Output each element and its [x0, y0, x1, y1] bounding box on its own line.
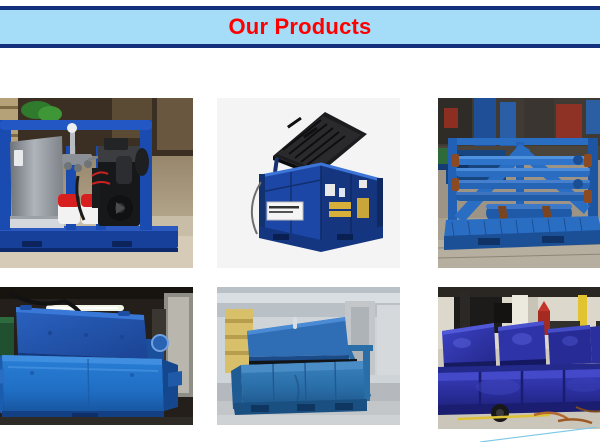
- photo-pipe-rack-skid-image: [438, 98, 600, 268]
- page-title: Our Products: [229, 16, 372, 38]
- photo-hydraulic-power-unit-image: [0, 98, 193, 268]
- photo-storage-box-open-image: [0, 287, 193, 425]
- photo-box-row-warehouse-image: [438, 287, 600, 429]
- product-photo-box-row-warehouse[interactable]: [438, 287, 600, 429]
- photo-mat: [438, 287, 600, 429]
- header-banner: Our Products: [0, 6, 600, 48]
- photo-mat: [438, 98, 600, 268]
- product-photo-cuttings-box[interactable]: [217, 287, 400, 425]
- product-photo-pipe-rack-skid[interactable]: [438, 98, 600, 268]
- photo-mat: [0, 98, 193, 268]
- leader-line: [480, 427, 600, 442]
- product-photo-storage-box-open[interactable]: [0, 287, 193, 425]
- product-photo-enclosed-skid-unit[interactable]: [217, 98, 400, 268]
- product-photo-hydraulic-power-unit[interactable]: [0, 98, 193, 268]
- photo-mat: [217, 287, 400, 425]
- photo-cuttings-box-image: [217, 287, 400, 425]
- photo-mat: [0, 287, 193, 425]
- photo-enclosed-skid-unit-image: [217, 98, 400, 268]
- photo-mat: [217, 98, 400, 268]
